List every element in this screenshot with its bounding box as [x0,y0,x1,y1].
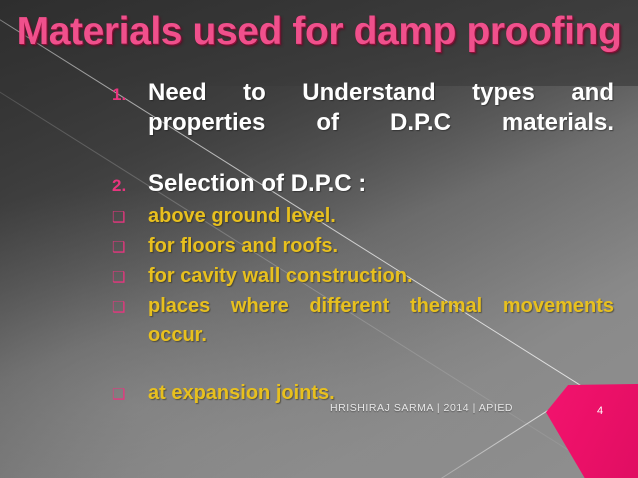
slide-body-content: 1. Need to Understand types and properti… [112,78,614,409]
square-bullet-icon: ❑ [112,232,148,262]
list-number-marker: 2. [112,169,148,201]
slide-title: Materials used for damp proofing [0,10,638,54]
numbered-list-item-text: Need to Understand types and properties … [148,78,614,168]
numbered-list-item: 2. Selection of D.P.C : [112,169,614,201]
numbered-list-item: 1. Need to Understand types and properti… [112,78,614,168]
sub-list-item: ❑ above ground level. [112,202,614,232]
square-bullet-icon: ❑ [112,379,148,409]
page-number: 4 [597,405,604,417]
corner-accent-shape [546,384,638,478]
sub-list-item: ❑ for cavity wall construction. [112,262,614,292]
presentation-slide: Materials used for damp proofing 1. Need… [0,0,638,478]
sub-list-item: ❑ for floors and roofs. [112,232,614,262]
sub-list-item-text: for cavity wall construction. [148,262,614,291]
sub-list-item-text: above ground level. [148,202,614,231]
square-bullet-icon: ❑ [112,202,148,232]
square-bullet-icon: ❑ [112,262,148,292]
square-bullet-icon: ❑ [112,292,148,322]
list-number-marker: 1. [112,78,148,110]
sub-list-item: ❑ places where different thermal movemen… [112,292,614,379]
sub-list-item-text: for floors and roofs. [148,232,614,261]
diagonal-accent-line-reflected [387,410,548,478]
numbered-list-item-text: Selection of D.P.C : [148,169,614,199]
sub-list-item-text: places where different thermal movements… [148,292,614,379]
footer-credit-text: HRISHIRAJ SARMA | 2014 | APIED [330,402,513,414]
